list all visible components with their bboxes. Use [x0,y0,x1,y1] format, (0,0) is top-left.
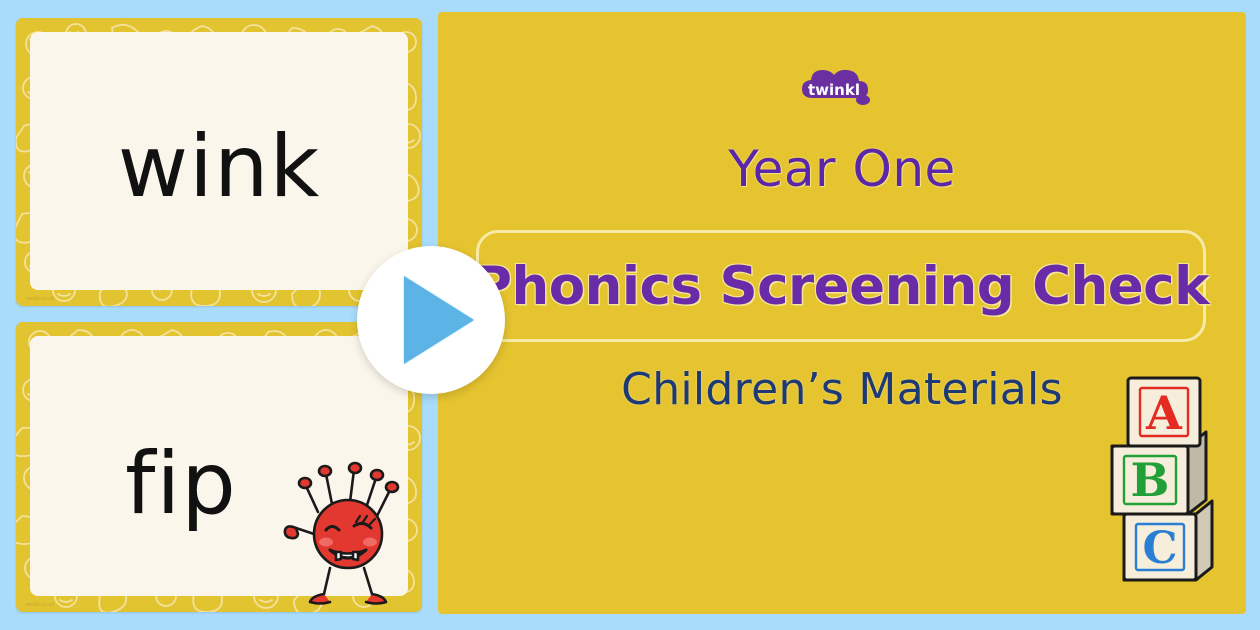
word-card-wink[interactable]: wink twinkl.co.uk [16,18,422,306]
word-card-fip[interactable]: fip [16,322,422,612]
play-triangle-icon [404,276,474,364]
title-year: Year One [438,140,1246,198]
card-watermark: twinkl.co.uk [26,602,54,608]
title-slide-panel: twinkl Year One Phonics Screening Check … [438,12,1246,614]
word-text: fip [125,441,237,527]
card-watermark: twinkl.co.uk [26,296,54,302]
block-letter-b: B [1131,453,1170,507]
word-text: wink [118,124,321,210]
block-letter-c: C [1142,523,1177,574]
card-inner-panel: wink [30,32,408,290]
abc-blocks-illustration: C B A [1106,364,1228,596]
block-letter-a: A [1145,386,1183,440]
title-main: Phonics Screening Check [473,256,1209,317]
title-main-box: Phonics Screening Check [476,230,1206,342]
twinkl-logo-text: twinkl [808,81,860,99]
twinkl-logo[interactable]: twinkl [793,64,879,116]
red-spiky-monster-icon [280,460,408,608]
play-button[interactable] [357,246,505,394]
